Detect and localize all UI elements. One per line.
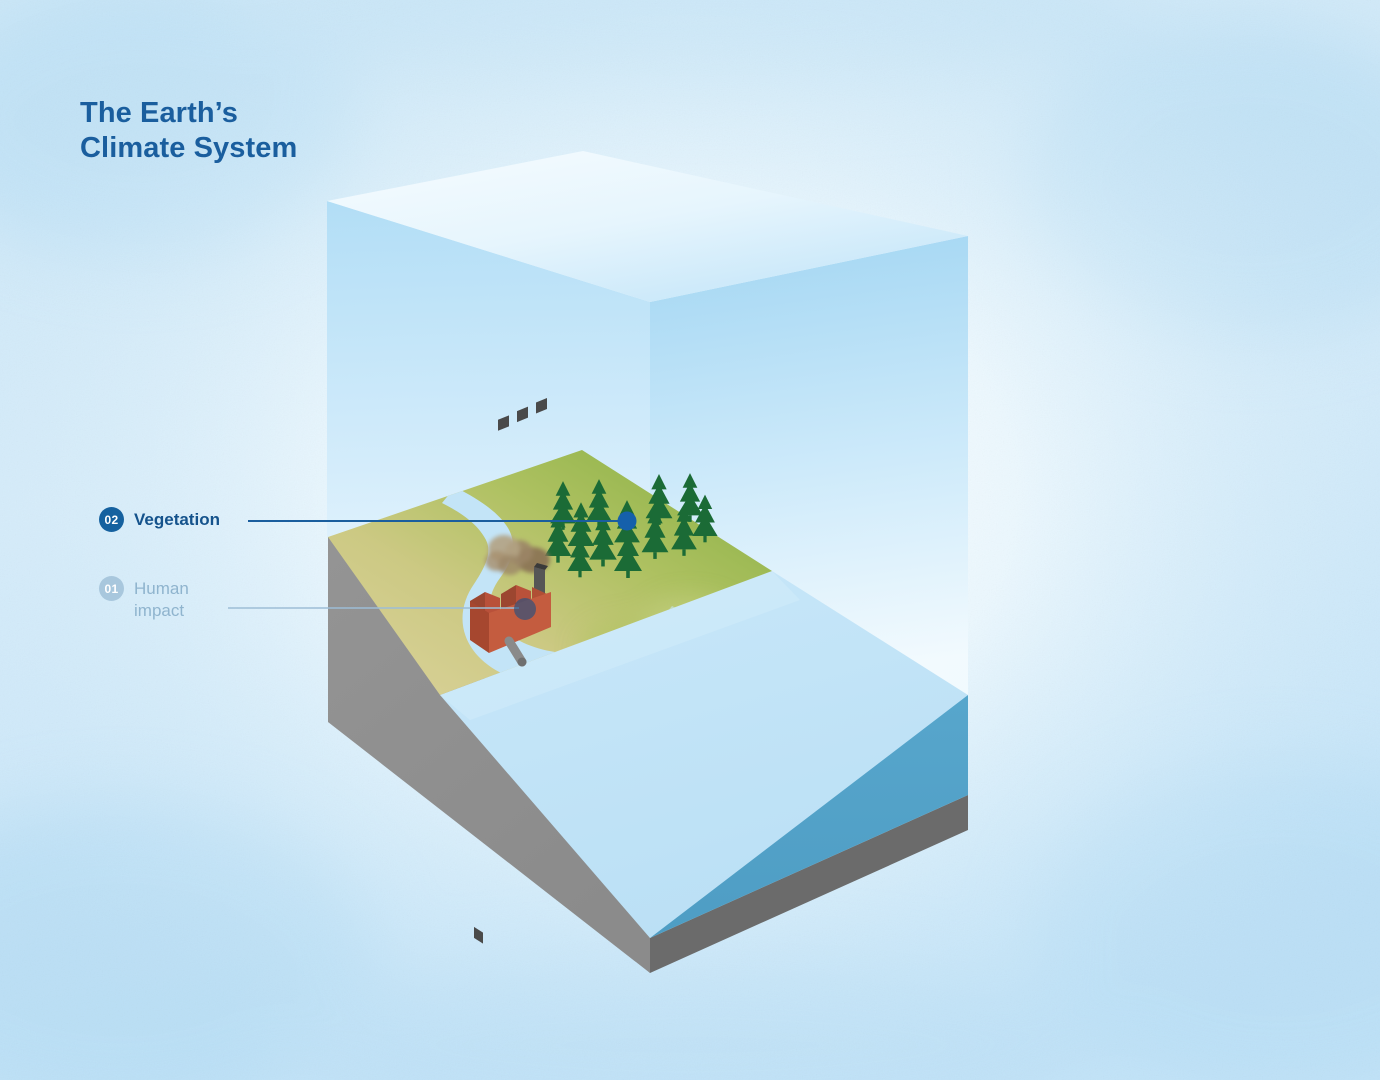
factory-marker[interactable] [514,598,536,620]
tree-canopy-marker[interactable] [618,512,637,531]
legend-label-human-impact: Human impact [134,576,189,622]
factory-window [474,927,483,944]
legend-item-vegetation[interactable]: 02 Vegetation [99,507,220,532]
legend-item-human-impact[interactable]: 01 Human impact [99,576,189,622]
legend-badge-01: 01 [99,576,124,601]
legend-label-vegetation: Vegetation [134,507,220,531]
legend-badge-02: 02 [99,507,124,532]
page-title: The Earth’s Climate System [80,96,297,167]
